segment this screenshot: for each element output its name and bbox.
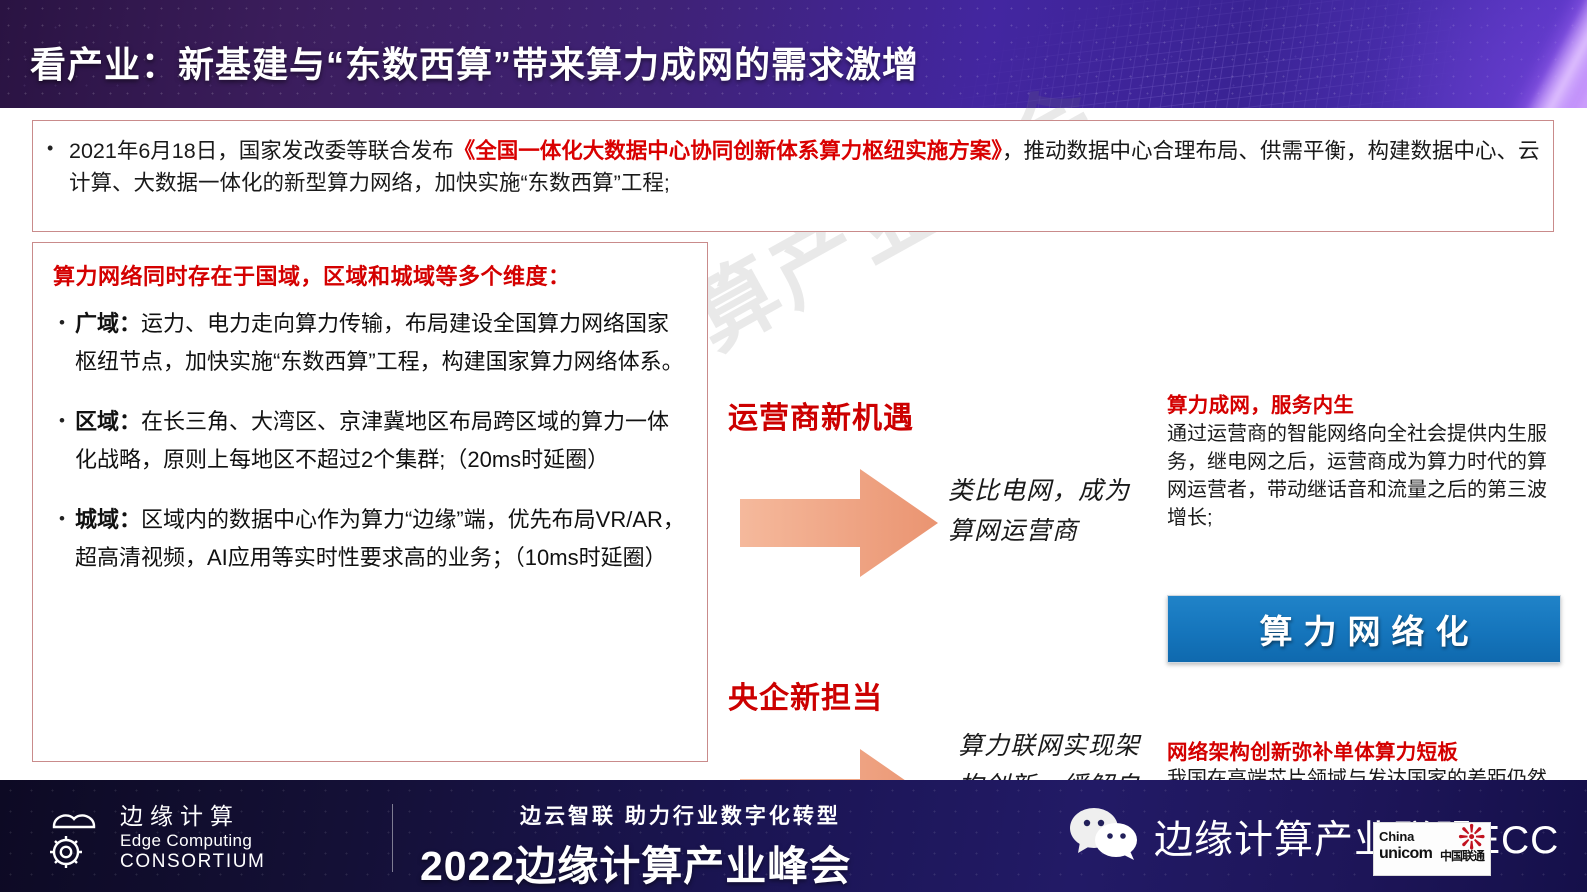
right-block2-heading: 网络架构创新弥补单体算力短板 xyxy=(1167,735,1458,765)
list-item-text: 区域内的数据中心作为算力“边缘”端，优先布局VR/AR，超高清视频，AI应用等实… xyxy=(75,507,685,570)
bullet-icon: • xyxy=(49,501,75,577)
list-item: • 广域：运力、电力走向算力传输，布局建设全国算力网络国家枢纽节点，加快实施“东… xyxy=(49,305,689,381)
left-panel: 算力网络同时存在于国域，区域和城域等多个维度： • 广域：运力、电力走向算力传输… xyxy=(32,242,708,762)
page-title: 看产业：新基建与“东数西算”带来算力成网的需求激增 xyxy=(30,36,919,88)
ecc-logo-cn: 边缘计算 xyxy=(120,802,265,830)
list-item-content: 区域：在长三角、大湾区、京津冀地区布局跨区域的算力一体化战略，原则上每地区不超过… xyxy=(75,403,689,479)
slide-root: 看产业：新基建与“东数西算”带来算力成网的需求激增 2022边缘计算产业峰会 •… xyxy=(0,0,1587,892)
blue-banner-label: 算力网络化 xyxy=(1249,605,1480,653)
slide-body: 2022边缘计算产业峰会 • 2021年6月18日，国家发改委等联合发布《全国一… xyxy=(0,108,1587,780)
list-item-label: 区域： xyxy=(75,409,141,434)
list-item-label: 广域： xyxy=(75,311,141,336)
top-note-bullet-icon: • xyxy=(47,135,69,199)
arrow-note-operator: 类比电网，成为算网运营商 xyxy=(948,471,1148,551)
section-title-soe-responsibility: 央企新担当 xyxy=(728,673,883,717)
top-note-text: 2021年6月18日，国家发改委等联合发布《全国一体化大数据中心协同创新体系算力… xyxy=(69,135,1543,199)
footer-subtitle: 边云智联 助力行业数字化转型 xyxy=(520,800,851,830)
slide-footer: 边缘计算 Edge Computing CONSORTIUM 边云智联 助力行业… xyxy=(0,780,1587,892)
list-item-label: 城域： xyxy=(75,507,141,532)
list-item: • 城域：区域内的数据中心作为算力“边缘”端，优先布局VR/AR，超高清视频，A… xyxy=(49,501,689,577)
slide-header: 看产业：新基建与“东数西算”带来算力成网的需求激增 xyxy=(0,0,1587,108)
ecc-logo-en1: Edge Computing xyxy=(120,830,265,851)
bullet-icon: • xyxy=(49,305,75,381)
left-panel-heading: 算力网络同时存在于国域，区域和城域等多个维度： xyxy=(33,243,707,291)
unicom-en1: China xyxy=(1379,829,1414,844)
footer-event-branding: 边云智联 助力行业数字化转型 2022边缘计算产业峰会 xyxy=(420,800,851,892)
list-item-content: 广域：运力、电力走向算力传输，布局建设全国算力网络国家枢纽节点，加快实施“东数西… xyxy=(75,305,689,381)
ecc-logo-en2: CONSORTIUM xyxy=(120,851,265,873)
wechat-icon xyxy=(1068,806,1142,867)
top-note-box: • 2021年6月18日，国家发改委等联合发布《全国一体化大数据中心协同创新体系… xyxy=(32,120,1554,232)
right-block1-body: 通过运营商的智能网络向全社会提供内生服务，继电网之后，运营商成为算力时代的算网运… xyxy=(1167,420,1559,532)
right-block1-heading: 算力成网，服务内生 xyxy=(1167,388,1354,418)
list-item-text: 在长三角、大湾区、京津冀地区布局跨区域的算力一体化战略，原则上每地区不超过2个集… xyxy=(75,409,669,472)
ecc-logo-mark-icon xyxy=(36,800,114,874)
bullet-icon: • xyxy=(49,403,75,479)
ecc-logo-text: 边缘计算 Edge Computing CONSORTIUM xyxy=(120,802,265,873)
footer-divider xyxy=(392,804,393,872)
list-item-content: 城域：区域内的数据中心作为算力“边缘”端，优先布局VR/AR，超高清视频，AI应… xyxy=(75,501,689,577)
unicom-en2: unicom xyxy=(1379,845,1432,863)
footer-main-title: 2022边缘计算产业峰会 xyxy=(420,832,851,892)
unicom-mark-icon: ❊ xyxy=(1458,822,1487,855)
blue-banner: 算力网络化 xyxy=(1167,595,1561,663)
ecc-logo: 边缘计算 Edge Computing CONSORTIUM xyxy=(36,796,386,878)
top-note-highlight: 《全国一体化大数据中心协同创新体系算力枢纽实施方案》 xyxy=(454,139,1002,163)
china-unicom-logo: China unicom 中国联通 ❊ xyxy=(1373,822,1491,876)
list-item-text: 运力、电力走向算力传输，布局建设全国算力网络国家枢纽节点，加快实施“东数西算”工… xyxy=(75,311,684,374)
left-panel-list: • 广域：运力、电力走向算力传输，布局建设全国算力网络国家枢纽节点，加快实施“东… xyxy=(33,291,707,577)
section-title-operator-opportunity: 运营商新机遇 xyxy=(728,393,914,437)
right-arrow-icon xyxy=(740,463,940,583)
top-note-part1: 2021年6月18日，国家发改委等联合发布 xyxy=(69,139,454,163)
list-item: • 区域：在长三角、大湾区、京津冀地区布局跨区域的算力一体化战略，原则上每地区不… xyxy=(49,403,689,479)
wechat-account-label: 边缘计算产业联盟ECC xyxy=(1154,809,1559,865)
